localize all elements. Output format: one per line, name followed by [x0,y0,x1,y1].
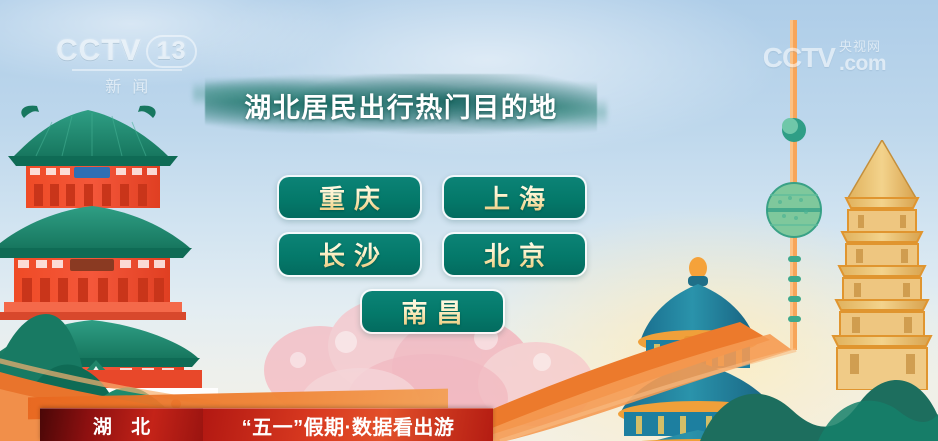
logo-divider [72,69,182,71]
destination-label: 重庆 [310,179,389,216]
broadcast-graphic: CCTV 13 新闻 CCTV 央视网 .com 湖北居民出行热门目的地 重庆 … [0,0,938,441]
right-hills [700,320,938,441]
lower-third-banner: 湖 北 “五一”假期·数据看出游 [40,408,493,441]
cctvcom-watermark: CCTV 央视网 .com [763,40,886,74]
cctvcom-brand: CCTV [763,42,835,74]
destination-pill-1[interactable]: 重庆 [277,175,422,220]
destination-label: 南昌 [392,293,471,330]
lower-third-region: 湖 北 [40,408,203,441]
destination-pill-2[interactable]: 上海 [442,175,587,220]
destination-label: 上海 [475,179,554,216]
lower-third-topic: “五一”假期·数据看出游 [203,408,493,441]
channel-name: 新闻 [94,73,159,97]
destination-pill-4[interactable]: 北京 [442,232,587,277]
chinese-pavilion-icon [0,96,242,386]
golden-pagoda-icon [828,140,936,390]
cctv13-channel-logo: CCTV 13 新闻 [56,34,197,97]
page-title: 湖北居民出行热门目的地 [205,83,597,127]
destination-list: 重庆 上海 长沙 北京 南昌 [277,175,587,334]
cctv13-logo-row: CCTV 13 [56,34,197,68]
destination-label: 北京 [475,236,554,273]
destination-pill-5[interactable]: 南昌 [360,289,505,334]
temple-of-heaven-icon [588,250,808,441]
network-name: CCTV [56,34,142,68]
cctvcom-domain: .com [839,53,886,74]
channel-number: 13 [146,35,198,68]
destination-label: 长沙 [310,236,389,273]
destination-pill-3[interactable]: 长沙 [277,232,422,277]
cctvcom-stack: 央视网 .com [839,40,886,74]
